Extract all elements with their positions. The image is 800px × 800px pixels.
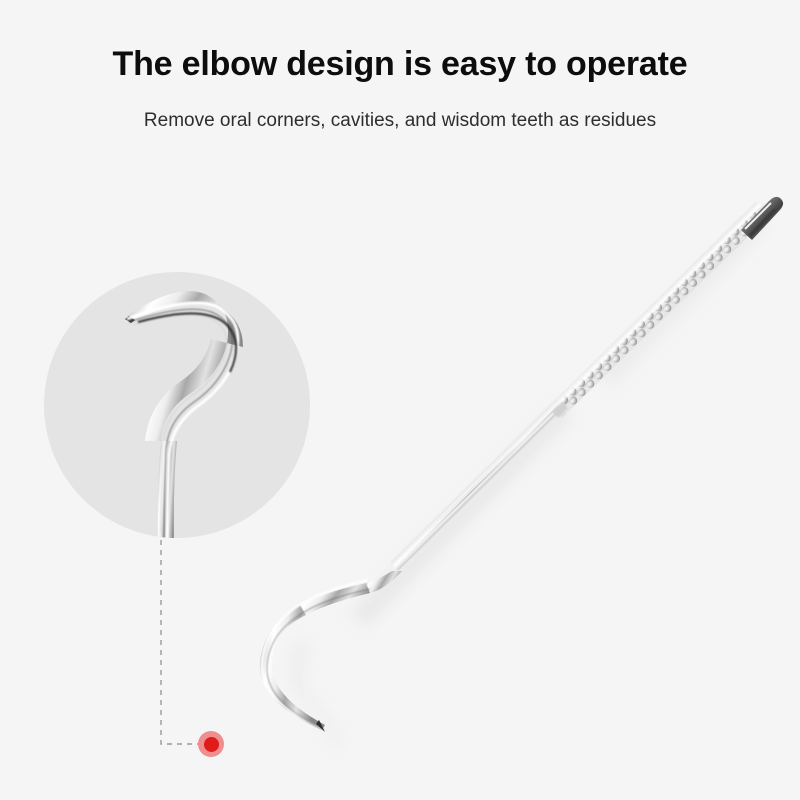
product-shadow (291, 214, 766, 746)
shaft-highlights (391, 202, 764, 570)
callout-dot (198, 731, 224, 757)
product-marketing-image: The elbow design is easy to operate Remo… (0, 0, 800, 800)
callout-dot-core (204, 737, 219, 752)
page-subtitle: Remove oral corners, cavities, and wisdo… (0, 108, 800, 134)
magnifier-circle (44, 272, 310, 547)
page-title: The elbow design is easy to operate (0, 42, 800, 86)
callout-leader-line (161, 540, 198, 744)
